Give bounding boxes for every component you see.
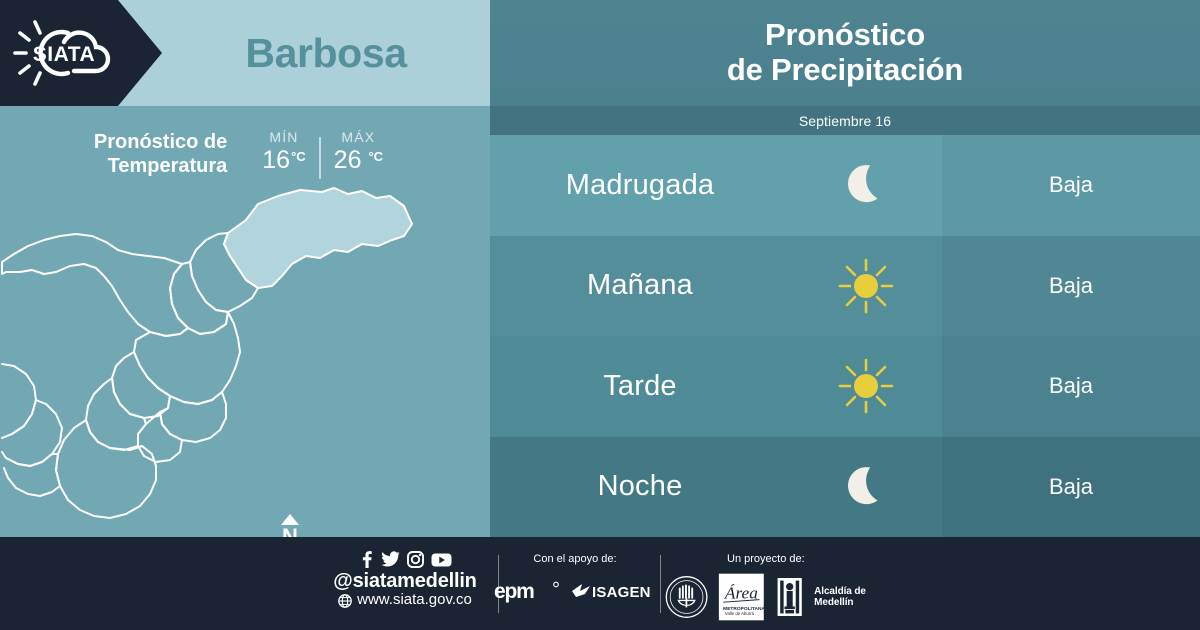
area-metropolitana-logo: Área METROPOLITANA Valle de Aburrá <box>718 569 765 625</box>
min-value-group: 16 °C <box>262 146 305 175</box>
moon-icon <box>839 158 893 212</box>
website-row[interactable]: www.siata.gov.co <box>338 592 472 609</box>
instagram-icon[interactable] <box>407 551 424 568</box>
map-region-barbosa <box>224 188 412 288</box>
north-arrow: N <box>272 514 308 537</box>
precipitation-title-line2: de Precipitación <box>727 53 963 88</box>
max-label: MÁX <box>341 129 375 145</box>
aburra-valley-map: N <box>0 184 490 537</box>
infographic-root: SIATA Barbosa Pronóstico de Precipitació… <box>0 0 1200 630</box>
max-unit: °C <box>368 149 383 164</box>
forecast-date: Septiembre 16 <box>490 106 1200 135</box>
website-text: www.siata.gov.co <box>357 592 472 609</box>
temperature-block: Pronóstico de Temperatura MÍN 16 °C MÁX … <box>0 122 490 186</box>
isagen-logo: ISAGEN <box>570 581 656 601</box>
temperature-label: Pronóstico de Temperatura <box>94 130 227 178</box>
table-row: Mañana Baja <box>490 236 1200 337</box>
twitter-icon[interactable] <box>381 551 400 568</box>
universidad-nacional-seal <box>665 572 708 622</box>
table-row: Tarde Baja <box>490 336 1200 437</box>
alcaldia-medellin-logo <box>775 573 804 621</box>
moon-icon <box>839 460 893 514</box>
min-value: 16 <box>262 146 290 175</box>
precipitation-header: Pronóstico de Precipitación <box>490 0 1200 106</box>
facebook-icon[interactable] <box>359 551 374 568</box>
map-region-bello <box>2 234 188 336</box>
forecast-icon-cell <box>790 236 942 337</box>
forecast-period: Tarde <box>490 336 790 437</box>
north-arrow-label: N <box>282 526 298 537</box>
alcaldia-label: Alcaldía de Medellín <box>814 586 895 608</box>
forecast-icon-cell <box>790 437 942 538</box>
epm-logo: epm <box>494 579 560 603</box>
min-label: MÍN <box>269 129 298 145</box>
forecast-level: Baja <box>942 135 1200 236</box>
forecast-icon-cell <box>790 135 942 236</box>
min-max-group: MÍN 16 °C MÁX 26 °C <box>249 129 396 179</box>
forecast-period: Mañana <box>490 236 790 337</box>
social-column: @siatamedellin www.siata.gov.co <box>330 551 480 609</box>
social-handle[interactable]: @siatamedellin <box>333 570 476 592</box>
forecast-level: Baja <box>942 236 1200 337</box>
footer: @siatamedellin www.siata.gov.co Con el a… <box>0 537 1200 630</box>
support-logos: epm ISAGEN <box>494 579 656 603</box>
map-svg <box>0 184 490 537</box>
map-region-west-edge-3 <box>4 454 60 496</box>
sun-icon <box>836 256 896 316</box>
map-region-west-edge-2 <box>2 400 62 466</box>
min-unit: °C <box>291 149 306 164</box>
max-value-group: 26 °C <box>334 146 383 175</box>
svg-text:epm: epm <box>494 580 534 603</box>
support-column: Con el apoyo de: epm ISAGEN <box>500 553 650 603</box>
map-region-caldas <box>56 420 156 518</box>
temperature-label-line2: Temperatura <box>94 154 227 178</box>
globe-icon <box>338 594 352 608</box>
map-region-itagui <box>112 352 170 418</box>
max-value: 26 <box>334 146 362 175</box>
siata-logo: SIATA <box>12 16 116 90</box>
temperature-map-panel: Pronóstico de Temperatura MÍN 16 °C MÁX … <box>0 106 490 537</box>
map-region-copacabana <box>170 262 228 334</box>
table-row: Noche Baja <box>490 437 1200 538</box>
project-logos: Área METROPOLITANA Valle de Aburrá <box>665 569 895 625</box>
max-temperature: MÁX 26 °C <box>321 129 396 175</box>
min-temperature: MÍN 16 °C <box>249 129 318 175</box>
youtube-icon[interactable] <box>431 552 452 568</box>
area-metropolitana-sub: Valle de Aburrá <box>725 611 755 616</box>
sun-cloud-icon: SIATA <box>12 16 116 90</box>
precipitation-title-line1: Pronóstico <box>727 18 963 53</box>
header-left: SIATA Barbosa <box>0 0 490 106</box>
map-region-west-edge-1 <box>2 364 36 438</box>
forecast-level: Baja <box>942 437 1200 538</box>
precipitation-forecast-table: Madrugada Baja Mañana <box>490 135 1200 537</box>
sun-icon <box>836 356 896 416</box>
project-label: Un proyecto de: <box>727 553 805 565</box>
forecast-level: Baja <box>942 336 1200 437</box>
forecast-period: Madrugada <box>490 135 790 236</box>
table-row: Madrugada Baja <box>490 135 1200 236</box>
support-label: Con el apoyo de: <box>533 553 616 565</box>
forecast-period: Noche <box>490 437 790 538</box>
svg-text:ISAGEN: ISAGEN <box>592 584 651 601</box>
social-icons <box>359 551 452 568</box>
temperature-label-line1: Pronóstico de <box>94 130 227 154</box>
forecast-icon-cell <box>790 336 942 437</box>
city-name: Barbosa <box>162 0 490 106</box>
precipitation-title: Pronóstico de Precipitación <box>727 18 963 87</box>
siata-logo-text: SIATA <box>33 43 95 66</box>
footer-divider-2 <box>660 555 661 613</box>
